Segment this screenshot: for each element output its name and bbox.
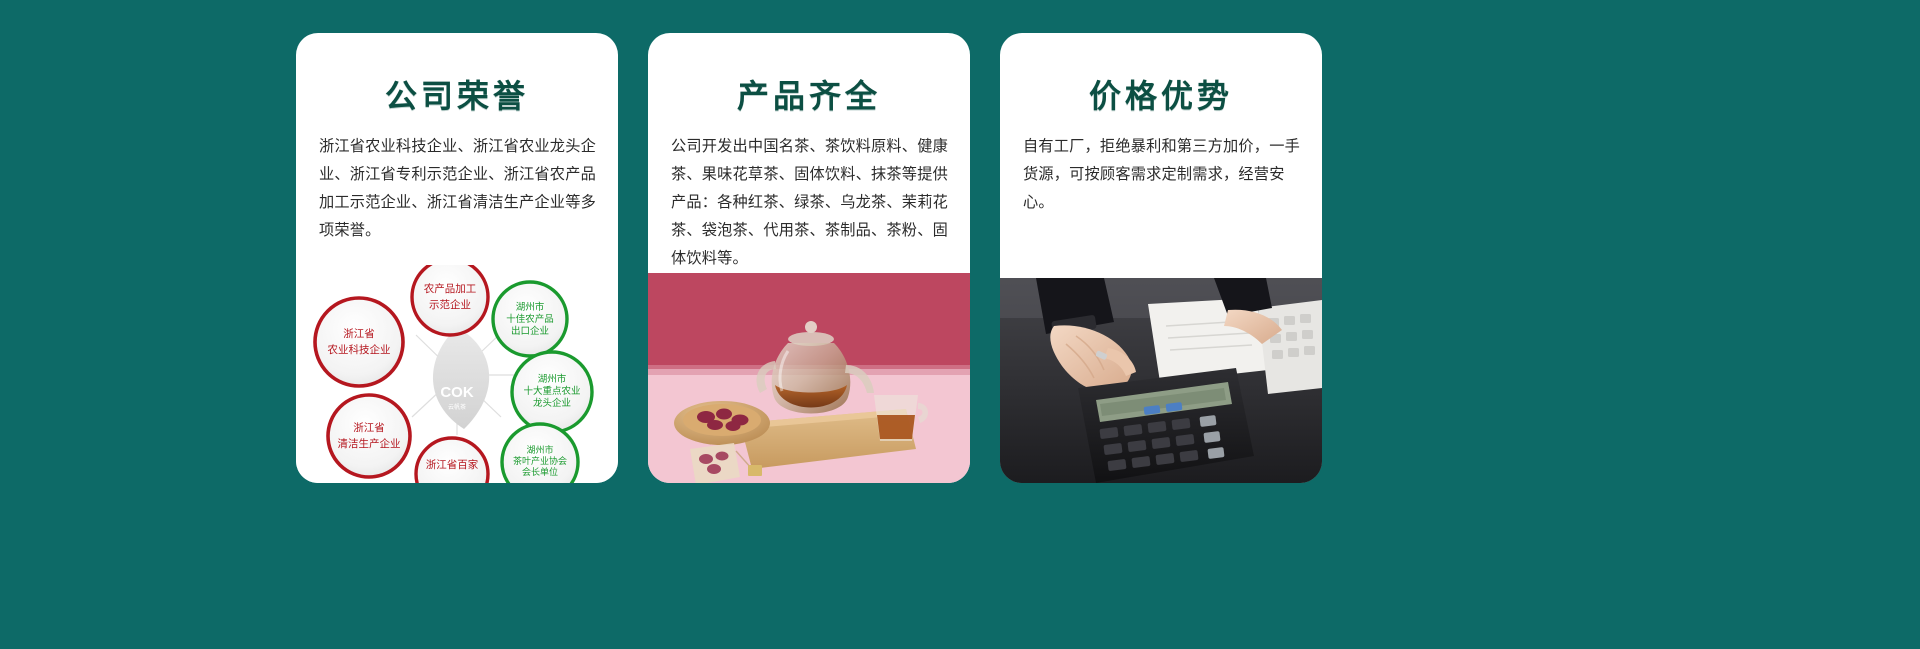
card-price-advantage[interactable]: 价格优势 自有工厂，拒绝暴利和第三方加价，一手货源，可按顾客需求定制需求，经营安… [1000, 33, 1322, 483]
center-logo-text: COK [440, 384, 474, 401]
honor-diagram-svg: COK 云帆茶 农产品加工 示范企业 湖州市 十佳农产品 出口企业 [296, 265, 618, 483]
node-label-line: 会长单位 [522, 466, 558, 477]
teapot-photo-svg [648, 273, 970, 483]
calculator-photo-svg [1000, 278, 1322, 483]
honor-node-leading-enterprise: 湖州市 十大重点农业 龙头企业 [512, 352, 592, 432]
node-label-line: 农产品加工 [424, 282, 477, 295]
card-body-text: 浙江省农业科技企业、浙江省农业龙头企业、浙江省专利示范企业、浙江省农产品加工示范… [296, 133, 618, 245]
node-label-line: 示范企业 [429, 298, 471, 311]
card-body-text: 自有工厂，拒绝暴利和第三方加价，一手货源，可按顾客需求定制需求，经营安心。 [1000, 133, 1322, 217]
node-label-line: 十佳农产品 [506, 313, 554, 325]
node-label-line: 龙头企业 [533, 397, 571, 409]
card-title: 公司荣誉 [296, 77, 618, 115]
center-logo: COK 云帆茶 [433, 327, 489, 429]
flower-bowl [674, 401, 770, 445]
node-label-line: 湖州市 [538, 373, 567, 385]
page-background: 公司荣誉 浙江省农业科技企业、浙江省农业龙头企业、浙江省专利示范企业、浙江省农产… [0, 0, 1920, 649]
node-label-line: 出口企业 [511, 325, 549, 337]
node-label-line: 茶叶产业协会 [513, 455, 567, 466]
card-company-honor[interactable]: 公司荣誉 浙江省农业科技企业、浙江省农业龙头企业、浙江省专利示范企业、浙江省农产… [296, 33, 618, 483]
node-label-line: 清洁生产企业 [338, 437, 401, 450]
center-logo-sub: 云帆茶 [448, 403, 466, 411]
node-label-line: 浙江省 [353, 421, 385, 434]
card-title: 价格优势 [1000, 77, 1322, 115]
card-full-product-range[interactable]: 产品齐全 公司开发出中国名茶、茶饮料原料、健康茶、果味花草茶、固体饮料、抹茶等提… [648, 33, 970, 483]
honor-node-zhejiang-hundred: 浙江省百家 [416, 438, 488, 483]
node-label-line: 湖州市 [516, 301, 545, 313]
node-label-line: 湖州市 [526, 444, 553, 455]
node-label-line: 浙江省百家 [426, 458, 479, 471]
honor-node-clean-production: 浙江省 清洁生产企业 [328, 395, 410, 477]
calculator-photo [1000, 278, 1322, 483]
honor-node-tea-association: 湖州市 茶叶产业协会 会长单位 [502, 424, 578, 483]
feature-cards-row: 公司荣誉 浙江省农业科技企业、浙江省农业龙头企业、浙江省专利示范企业、浙江省农产… [296, 33, 1322, 483]
node-label-line: 浙江省 [343, 327, 375, 340]
honor-node-agri-processing: 农产品加工 示范企业 [412, 265, 488, 335]
honor-diagram: COK 云帆茶 农产品加工 示范企业 湖州市 十佳农产品 出口企业 [296, 265, 618, 483]
card-title: 产品齐全 [648, 77, 970, 115]
card-body-text: 公司开发出中国名茶、茶饮料原料、健康茶、果味花草茶、固体饮料、抹茶等提供产品：各… [648, 133, 970, 273]
teapot-photo [648, 273, 970, 483]
node-label-line: 农业科技企业 [328, 343, 391, 356]
keyboard [1258, 300, 1322, 394]
honor-node-agri-tech: 浙江省 农业科技企业 [315, 298, 403, 386]
honor-node-top-export: 湖州市 十佳农产品 出口企业 [493, 282, 567, 356]
node-label-line: 十大重点农业 [523, 385, 580, 397]
